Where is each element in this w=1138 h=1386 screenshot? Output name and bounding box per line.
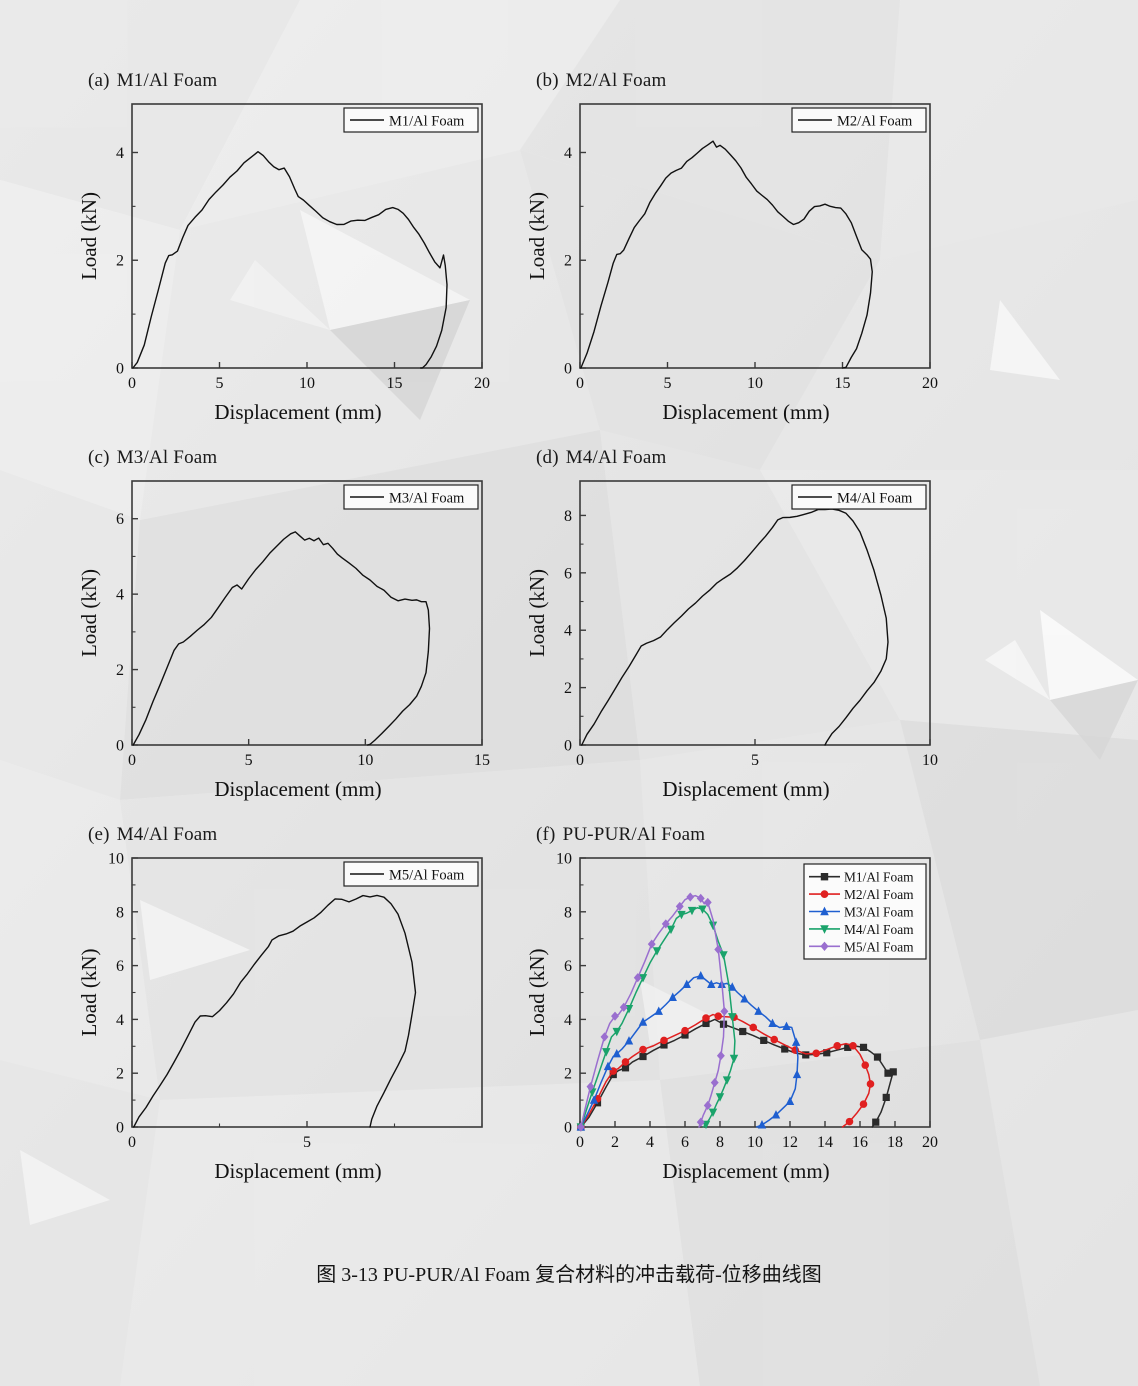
- panel-d-name: M4/Al Foam: [566, 447, 667, 468]
- series-line-1: [582, 509, 888, 745]
- series-marker: [720, 952, 727, 959]
- panel-f-name: PU-PUR/Al Foam: [563, 824, 706, 845]
- series-line-1: [133, 532, 429, 745]
- x-tick-label: 0: [128, 1134, 136, 1151]
- panel-b-plot: 05101520024Load (kN)M2/Al Foam: [518, 98, 938, 398]
- series-marker: [883, 1094, 889, 1100]
- series-marker: [834, 1042, 841, 1049]
- series-marker: [717, 1094, 724, 1101]
- legend-label-3: M3/Al Foam: [844, 905, 914, 920]
- plot-frame: [580, 104, 930, 368]
- y-tick-label: 6: [116, 958, 124, 975]
- panel-b-svg: 05101520024Load (kN)M2/Al Foam: [518, 98, 938, 398]
- plot-frame: [132, 104, 482, 368]
- x-tick-label: 5: [245, 752, 253, 769]
- series-marker: [704, 899, 711, 907]
- series-line-3: [581, 976, 798, 1127]
- y-tick-label: 0: [116, 361, 124, 378]
- series-marker: [724, 1077, 731, 1084]
- panel-b-name: M2/Al Foam: [566, 70, 667, 91]
- panel-a-name: M1/Al Foam: [117, 70, 218, 91]
- series-marker: [821, 891, 828, 898]
- series-marker: [640, 1046, 647, 1053]
- y-tick-label: 4: [564, 1012, 572, 1029]
- panel-c-plot: 0510150246Load (kN)M3/Al Foam: [70, 475, 490, 775]
- series-marker: [821, 874, 827, 880]
- panel-c-name: M3/Al Foam: [117, 447, 218, 468]
- panel-c-title: (c)M3/Al Foam: [88, 447, 490, 469]
- plot-frame: [132, 858, 482, 1127]
- x-tick-label: 18: [887, 1134, 903, 1151]
- y-tick-label: 0: [564, 1120, 572, 1137]
- y-tick-label: 6: [564, 565, 572, 582]
- x-tick-label: 2: [611, 1134, 619, 1151]
- y-tick-label: 10: [556, 852, 572, 868]
- x-tick-label: 5: [751, 752, 759, 769]
- legend-label-4: M4/Al Foam: [844, 922, 914, 937]
- x-tick-label: 5: [664, 375, 672, 392]
- y-tick-label: 4: [564, 145, 572, 162]
- x-tick-label: 5: [303, 1134, 311, 1151]
- x-tick-label: 8: [716, 1134, 724, 1151]
- series-marker: [873, 1119, 879, 1125]
- series-marker: [704, 1102, 711, 1110]
- series-marker: [640, 1018, 647, 1025]
- x-tick-label: 10: [922, 752, 938, 769]
- panel-c-svg: 0510150246Load (kN)M3/Al Foam: [70, 475, 490, 775]
- series-marker: [601, 1033, 608, 1041]
- y-axis-title: Load (kN): [77, 948, 101, 1036]
- y-tick-label: 8: [116, 904, 124, 921]
- y-tick-label: 0: [116, 1120, 124, 1137]
- panel-b: (b)M2/Al Foam 05101520024Load (kN)M2/Al …: [518, 70, 938, 425]
- x-tick-label: 4: [646, 1134, 654, 1151]
- x-tick-label: 10: [357, 752, 373, 769]
- y-tick-label: 2: [116, 253, 124, 270]
- plot-frame: [132, 481, 482, 745]
- series-marker: [682, 1027, 689, 1034]
- series-marker: [860, 1044, 866, 1050]
- panel-d: (d)M4/Al Foam 051002468Load (kN)M4/Al Fo…: [518, 447, 938, 802]
- x-tick-label: 0: [128, 752, 136, 769]
- panel-b-tag: (b): [536, 70, 559, 91]
- panel-c-tag: (c): [88, 447, 110, 468]
- y-axis-title: Load (kN): [525, 569, 549, 657]
- series-marker: [750, 1024, 757, 1031]
- panel-a-svg: 05101520024Load (kN)M1/Al Foam: [70, 98, 490, 398]
- series-marker: [640, 1053, 646, 1059]
- x-tick-label: 20: [922, 375, 938, 392]
- panel-b-xaxis-title: Displacement (mm): [518, 400, 938, 425]
- series-marker: [718, 1052, 725, 1060]
- series-marker: [697, 1118, 704, 1126]
- y-axis-title: Load (kN): [77, 569, 101, 657]
- x-tick-label: 15: [835, 375, 851, 392]
- panel-a-plot: 05101520024Load (kN)M1/Al Foam: [70, 98, 490, 398]
- y-tick-label: 0: [116, 738, 124, 755]
- series-marker: [759, 1121, 766, 1128]
- series-marker: [846, 1118, 853, 1125]
- figure-caption: 图 3-13 PU-PUR/Al Foam 复合材料的冲击载荷-位移曲线图: [0, 1258, 1138, 1287]
- y-tick-label: 10: [108, 852, 124, 868]
- series-marker: [721, 1008, 728, 1016]
- panel-d-tag: (d): [536, 447, 559, 468]
- series-marker: [771, 1036, 778, 1043]
- x-tick-label: 6: [681, 1134, 689, 1151]
- x-tick-label: 16: [852, 1134, 868, 1151]
- series-marker: [890, 1069, 896, 1075]
- plot-frame: [580, 481, 930, 745]
- series-marker: [787, 1098, 794, 1105]
- series-marker: [731, 1055, 738, 1062]
- x-tick-label: 5: [216, 375, 224, 392]
- legend-label: M4/Al Foam: [837, 491, 913, 507]
- x-tick-label: 15: [474, 752, 490, 769]
- y-tick-label: 0: [564, 738, 572, 755]
- series-line-1: [134, 895, 416, 1127]
- y-tick-label: 0: [564, 361, 572, 378]
- panel-e-title: (e)M4/Al Foam: [88, 824, 490, 846]
- legend-label: M1/Al Foam: [389, 114, 465, 130]
- series-marker: [867, 1081, 874, 1088]
- figure-row-3: (e)M4/Al Foam 050246810Load (kN)M5/Al Fo…: [70, 824, 960, 1184]
- legend-label: M5/Al Foam: [389, 868, 465, 884]
- panel-e-name: M4/Al Foam: [117, 824, 218, 845]
- series-line-1: [581, 141, 872, 368]
- series-marker: [740, 1028, 746, 1034]
- y-tick-label: 2: [564, 1066, 572, 1083]
- x-tick-label: 20: [474, 375, 490, 392]
- panel-a-tag: (a): [88, 70, 110, 91]
- y-tick-label: 4: [116, 587, 124, 604]
- panel-b-title: (b)M2/Al Foam: [536, 70, 938, 92]
- panel-e-svg: 050246810Load (kN)M5/Al Foam: [70, 852, 490, 1157]
- series-marker: [874, 1054, 880, 1060]
- legend-label-5: M5/Al Foam: [844, 939, 914, 954]
- panel-f-svg: 024681012141618200246810Load (kN)M1/Al F…: [518, 852, 938, 1157]
- series-line-1: [133, 152, 447, 368]
- x-tick-label: 10: [299, 375, 315, 392]
- y-tick-label: 4: [116, 145, 124, 162]
- panel-c: (c)M3/Al Foam 0510150246Load (kN)M3/Al F…: [70, 447, 490, 802]
- x-tick-label: 14: [817, 1134, 833, 1151]
- y-tick-label: 6: [116, 511, 124, 528]
- y-axis-title: Load (kN): [77, 192, 101, 280]
- series-line-1: [581, 1019, 893, 1127]
- series-marker: [813, 1050, 820, 1057]
- series-marker: [603, 1049, 610, 1056]
- x-tick-label: 12: [782, 1134, 798, 1151]
- panel-e-tag: (e): [88, 824, 110, 845]
- series-marker: [715, 1013, 722, 1020]
- panel-d-title: (d)M4/Al Foam: [536, 447, 938, 469]
- y-axis-title: Load (kN): [525, 948, 549, 1036]
- series-marker: [697, 972, 704, 979]
- series-marker: [862, 1062, 869, 1069]
- y-tick-label: 2: [564, 253, 572, 270]
- series-marker: [689, 907, 696, 914]
- figure-page: (a)M1/Al Foam 05101520024Load (kN)M1/Al …: [0, 0, 1138, 1386]
- series-marker: [860, 1101, 867, 1108]
- series-marker: [605, 1063, 612, 1070]
- panel-f-plot: 024681012141618200246810Load (kN)M1/Al F…: [518, 852, 938, 1157]
- series-marker: [622, 1059, 629, 1066]
- panel-e-plot: 050246810Load (kN)M5/Al Foam: [70, 852, 490, 1157]
- legend-label: M2/Al Foam: [837, 114, 913, 130]
- series-marker: [661, 1037, 668, 1044]
- x-tick-label: 0: [576, 1134, 584, 1151]
- series-marker: [850, 1042, 857, 1049]
- panel-e-xaxis-title: Displacement (mm): [70, 1159, 490, 1184]
- series-marker: [761, 1037, 767, 1043]
- panel-a: (a)M1/Al Foam 05101520024Load (kN)M1/Al …: [70, 70, 490, 425]
- panel-a-xaxis-title: Displacement (mm): [70, 400, 490, 425]
- legend-label-1: M1/Al Foam: [844, 870, 914, 885]
- series-marker: [687, 893, 694, 901]
- x-tick-label: 10: [747, 375, 763, 392]
- panel-d-xaxis-title: Displacement (mm): [518, 777, 938, 802]
- panel-d-plot: 051002468Load (kN)M4/Al Foam: [518, 475, 938, 775]
- x-tick-label: 0: [128, 375, 136, 392]
- series-marker: [794, 1071, 801, 1078]
- legend-label: M3/Al Foam: [389, 491, 465, 507]
- y-axis-title: Load (kN): [525, 192, 549, 280]
- figure-grid: (a)M1/Al Foam 05101520024Load (kN)M1/Al …: [70, 70, 960, 1184]
- y-tick-label: 6: [564, 958, 572, 975]
- panel-e: (e)M4/Al Foam 050246810Load (kN)M5/Al Fo…: [70, 824, 490, 1184]
- series-marker: [711, 1079, 718, 1087]
- panel-c-xaxis-title: Displacement (mm): [70, 777, 490, 802]
- series-marker: [793, 1039, 800, 1046]
- x-tick-label: 20: [922, 1134, 938, 1151]
- x-tick-label: 15: [387, 375, 403, 392]
- legend-label-2: M2/Al Foam: [844, 887, 914, 902]
- y-tick-label: 2: [116, 1066, 124, 1083]
- y-tick-label: 8: [564, 904, 572, 921]
- x-tick-label: 0: [576, 375, 584, 392]
- panel-a-title: (a)M1/Al Foam: [88, 70, 490, 92]
- x-tick-label: 10: [747, 1134, 763, 1151]
- series-marker: [710, 1109, 717, 1116]
- figure-row-1: (a)M1/Al Foam 05101520024Load (kN)M1/Al …: [70, 70, 960, 425]
- panel-f-xaxis-title: Displacement (mm): [518, 1159, 938, 1184]
- y-tick-label: 2: [116, 662, 124, 679]
- x-tick-label: 0: [576, 752, 584, 769]
- panel-f-tag: (f): [536, 824, 556, 845]
- panel-f-title: (f)PU-PUR/Al Foam: [536, 824, 938, 846]
- y-tick-label: 2: [564, 680, 572, 697]
- y-tick-label: 4: [116, 1012, 124, 1029]
- figure-row-2: (c)M3/Al Foam 0510150246Load (kN)M3/Al F…: [70, 447, 960, 802]
- series-marker: [703, 1015, 710, 1022]
- panel-f: (f)PU-PUR/Al Foam 0246810121416182002468…: [518, 824, 938, 1184]
- y-tick-label: 4: [564, 623, 572, 640]
- y-tick-label: 8: [564, 508, 572, 525]
- panel-d-svg: 051002468Load (kN)M4/Al Foam: [518, 475, 938, 775]
